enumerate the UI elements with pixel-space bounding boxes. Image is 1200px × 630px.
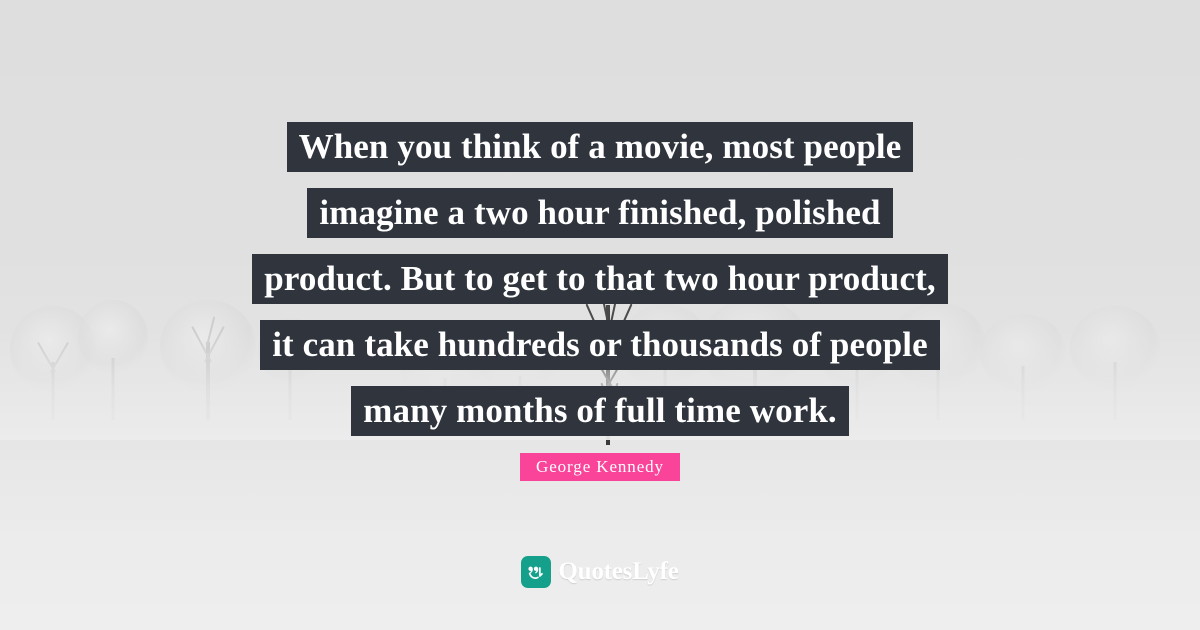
brand-logo[interactable]: QuotesLyfe bbox=[0, 556, 1200, 588]
quote-line: many months of full time work. bbox=[351, 386, 849, 436]
quote-line: it can take hundreds or thousands of peo… bbox=[260, 320, 940, 370]
quote-smiley-icon bbox=[521, 556, 551, 588]
quote-card: When you think of a movie, most people i… bbox=[0, 0, 1200, 630]
brand-name: QuotesLyfe bbox=[558, 557, 678, 587]
quote-text: When you think of a movie, most people i… bbox=[0, 122, 1200, 452]
quote-line: When you think of a movie, most people bbox=[287, 122, 914, 172]
quote-line: imagine a two hour finished, polished bbox=[307, 188, 892, 238]
author-attribution: George Kennedy bbox=[0, 453, 1200, 481]
author-name-badge: George Kennedy bbox=[520, 453, 680, 481]
quote-line: product. But to get to that two hour pro… bbox=[252, 254, 947, 304]
